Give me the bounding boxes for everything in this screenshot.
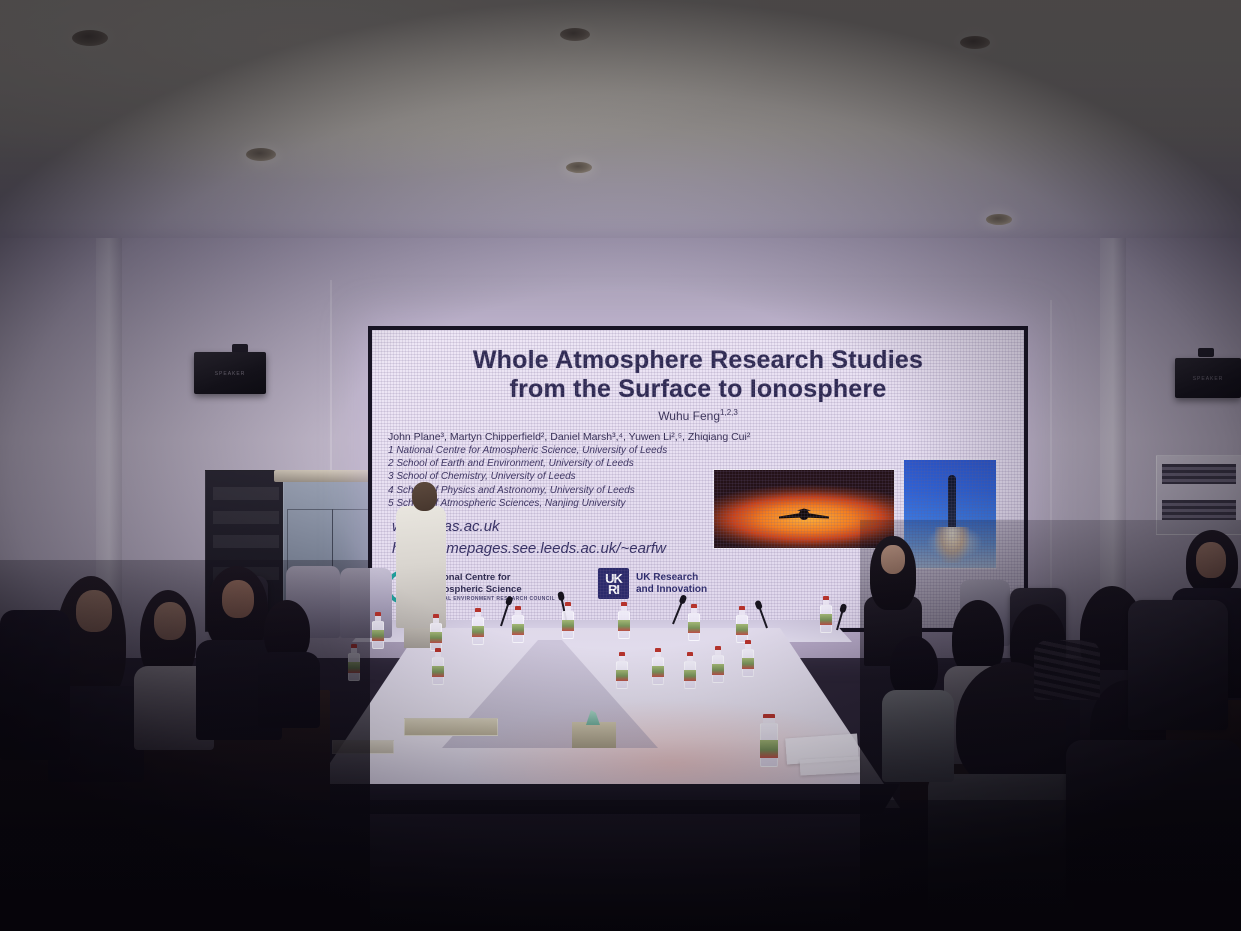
bottle-label (562, 620, 574, 631)
wall-speaker-right: SPEAKER (1175, 358, 1241, 398)
presenter-head (412, 482, 437, 511)
bottle-label (712, 664, 724, 675)
rack-slot-1 (213, 487, 279, 500)
bottle-label (618, 620, 630, 631)
water-bottle[interactable] (618, 602, 630, 639)
water-bottle[interactable] (820, 596, 832, 633)
name-card-holder-1[interactable] (404, 718, 498, 736)
ukri-line-1: UK Research (636, 572, 707, 584)
ukri-mark-bottom: RI (608, 584, 619, 595)
bottle-label (688, 622, 700, 633)
water-bottle[interactable] (684, 652, 696, 689)
ac-vent-bottom (1162, 500, 1236, 520)
bottle-label (472, 626, 484, 637)
ceiling-light-3 (560, 28, 590, 41)
tissue-box[interactable] (572, 722, 616, 748)
foreground-shadow-bottom (0, 800, 1241, 931)
water-bottle[interactable] (736, 606, 748, 643)
affiliation-1: 1 National Centre for Atmospheric Scienc… (388, 444, 898, 457)
ukri-logo-text: UK Research and Innovation (636, 572, 707, 595)
slide-coauthors: John Plane³, Martyn Chipperfield², Danie… (388, 431, 904, 444)
printed-paper-2[interactable] (800, 756, 861, 775)
ceiling-light-2 (246, 148, 276, 161)
ukri-mark-icon: UK RI (598, 568, 629, 599)
rack-slot-3 (213, 535, 279, 548)
bottle-label (430, 632, 442, 643)
bottle-label (820, 614, 832, 625)
speaker-left-label: SPEAKER (215, 371, 246, 377)
conference-room-photo: SPEAKER SPEAKER Whole Atmosphere Researc… (0, 0, 1241, 931)
slide-presenter-name: Wuhu Feng1,2,3 (372, 408, 1024, 423)
water-bottle[interactable] (652, 648, 664, 685)
water-bottle[interactable] (760, 714, 778, 767)
bottle-label (742, 658, 754, 669)
presenter-affil-marks: 1,2,3 (720, 408, 738, 417)
bottle-label (684, 670, 696, 681)
water-bottle[interactable] (430, 614, 442, 651)
ceiling (0, 0, 1241, 252)
ukri-logo: UK RI UK Research and Innovation (598, 568, 707, 599)
bottle-label (760, 740, 778, 758)
water-bottle[interactable] (432, 648, 444, 685)
slide-title-line1: Whole Atmosphere Research Studies (372, 346, 1024, 375)
affiliation-2: 2 School of Earth and Environment, Unive… (388, 457, 898, 470)
ukri-line-2: and Innovation (636, 584, 707, 596)
presenter-torso (396, 506, 446, 628)
bottle-label (616, 670, 628, 681)
ac-vent-top (1162, 464, 1236, 484)
bottle-label (432, 666, 444, 677)
ceiling-light-4 (566, 162, 592, 173)
airplane-icon (777, 507, 831, 520)
water-bottle[interactable] (742, 640, 754, 677)
slide-title-line2: from the Surface to Ionosphere (372, 375, 1024, 404)
water-bottle[interactable] (616, 652, 628, 689)
water-bottle[interactable] (712, 646, 724, 683)
bottle-label (652, 666, 664, 677)
water-bottle[interactable] (512, 606, 524, 643)
wall-speaker-left: SPEAKER (194, 352, 266, 394)
rack-slot-2 (213, 511, 279, 524)
water-bottle[interactable] (372, 612, 384, 649)
water-bottle[interactable] (688, 604, 700, 641)
bottle-label (512, 624, 524, 635)
ceiling-light-6 (986, 214, 1012, 225)
ceiling-light-5 (960, 36, 990, 49)
presenter-name-text: Wuhu Feng (658, 409, 720, 423)
bottle-label (372, 630, 384, 641)
ceiling-light-1 (72, 30, 108, 46)
water-bottle[interactable] (472, 608, 484, 645)
slide-title: Whole Atmosphere Research Studies from t… (372, 346, 1024, 405)
speaker-right-label: SPEAKER (1193, 376, 1224, 382)
speaker-mount-right (1198, 348, 1214, 357)
water-bottle[interactable] (562, 602, 574, 639)
bottle-label (736, 624, 748, 635)
